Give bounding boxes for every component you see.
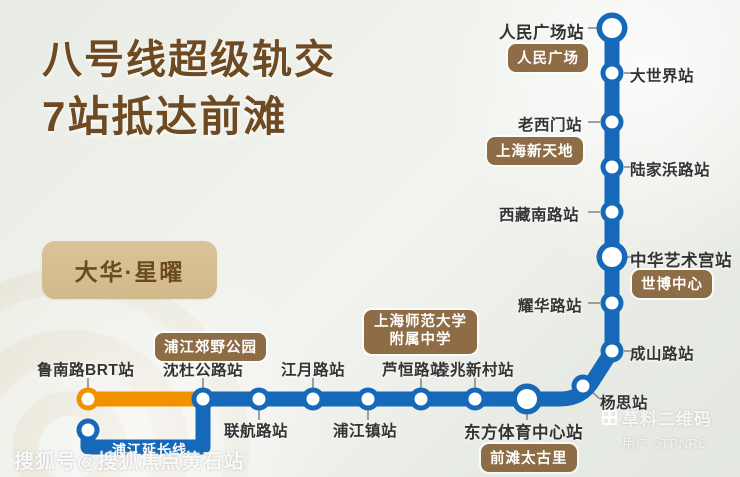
station-label-chengshan-lu[interactable]: 成山路站 bbox=[630, 342, 694, 364]
station-label-lujiabang-lu[interactable]: 陆家浜路站 bbox=[630, 158, 710, 180]
station-label-lunan-lu-brt[interactable]: 鲁南路BRT站 bbox=[37, 358, 134, 380]
metro-line-poster: 八号线超级轨交 7站抵达前滩 大华·星曜 bbox=[0, 0, 740, 477]
poi-badge-shida-fuzhong[interactable]: 上海师范大学 附属中学 bbox=[364, 310, 477, 354]
watermark-qr-title: 草料二维码 bbox=[622, 405, 712, 430]
station-label-pujiang-zhen[interactable]: 浦江镇站 bbox=[333, 419, 397, 441]
watermark-sohu: 搜狐号@搜狐焦点黄石站 bbox=[14, 445, 245, 474]
watermark-qr-user: 用户 oTPNR6 bbox=[622, 433, 712, 452]
station-label-dashijie[interactable]: 大世界站 bbox=[630, 64, 694, 86]
poi-badge-shida-fuzhong-line-2: 附属中学 bbox=[374, 332, 467, 350]
poi-badge-xintiandi[interactable]: 上海新天地 bbox=[487, 137, 583, 165]
station-label-luheng-lu[interactable]: 芦恒路站 bbox=[382, 358, 446, 380]
poi-badge-shibo-zhongxin[interactable]: 世博中心 bbox=[632, 270, 712, 298]
station-label-jiangyue-lu[interactable]: 江月路站 bbox=[281, 358, 345, 380]
station-label-shendu-gonglu[interactable]: 沈杜公路站 bbox=[163, 358, 243, 380]
poi-badge-renmin-guangchang[interactable]: 人民广场 bbox=[508, 44, 588, 72]
station-label-laoximen[interactable]: 老西门站 bbox=[518, 113, 582, 135]
station-label-zhonghua-yishugong[interactable]: 中华艺术宫站 bbox=[630, 247, 732, 271]
watermark-qr: 草料二维码 用户 oTPNR6 bbox=[602, 405, 712, 452]
station-dots bbox=[77, 13, 628, 442]
station-label-lianhang-lu[interactable]: 联航路站 bbox=[224, 419, 288, 441]
station-label-xizang-nan-lu[interactable]: 西藏南路站 bbox=[499, 203, 579, 225]
poi-badge-pujiang-jiaoye[interactable]: 浦江郊野公园 bbox=[155, 333, 266, 361]
qr-code-icon bbox=[602, 410, 617, 425]
watermark-qr-title-row: 草料二维码 bbox=[602, 405, 712, 430]
station-label-dongfang-tiyu[interactable]: 东方体育中心站 bbox=[464, 419, 583, 443]
poi-badge-qiantan-taikooli[interactable]: 前滩太古里 bbox=[481, 444, 577, 472]
poi-badge-shida-fuzhong-line-1: 上海师范大学 bbox=[374, 314, 467, 332]
station-label-yaohua-lu[interactable]: 耀华路站 bbox=[518, 294, 582, 316]
station-label-renmin-guangchang[interactable]: 人民广场站 bbox=[499, 19, 584, 43]
